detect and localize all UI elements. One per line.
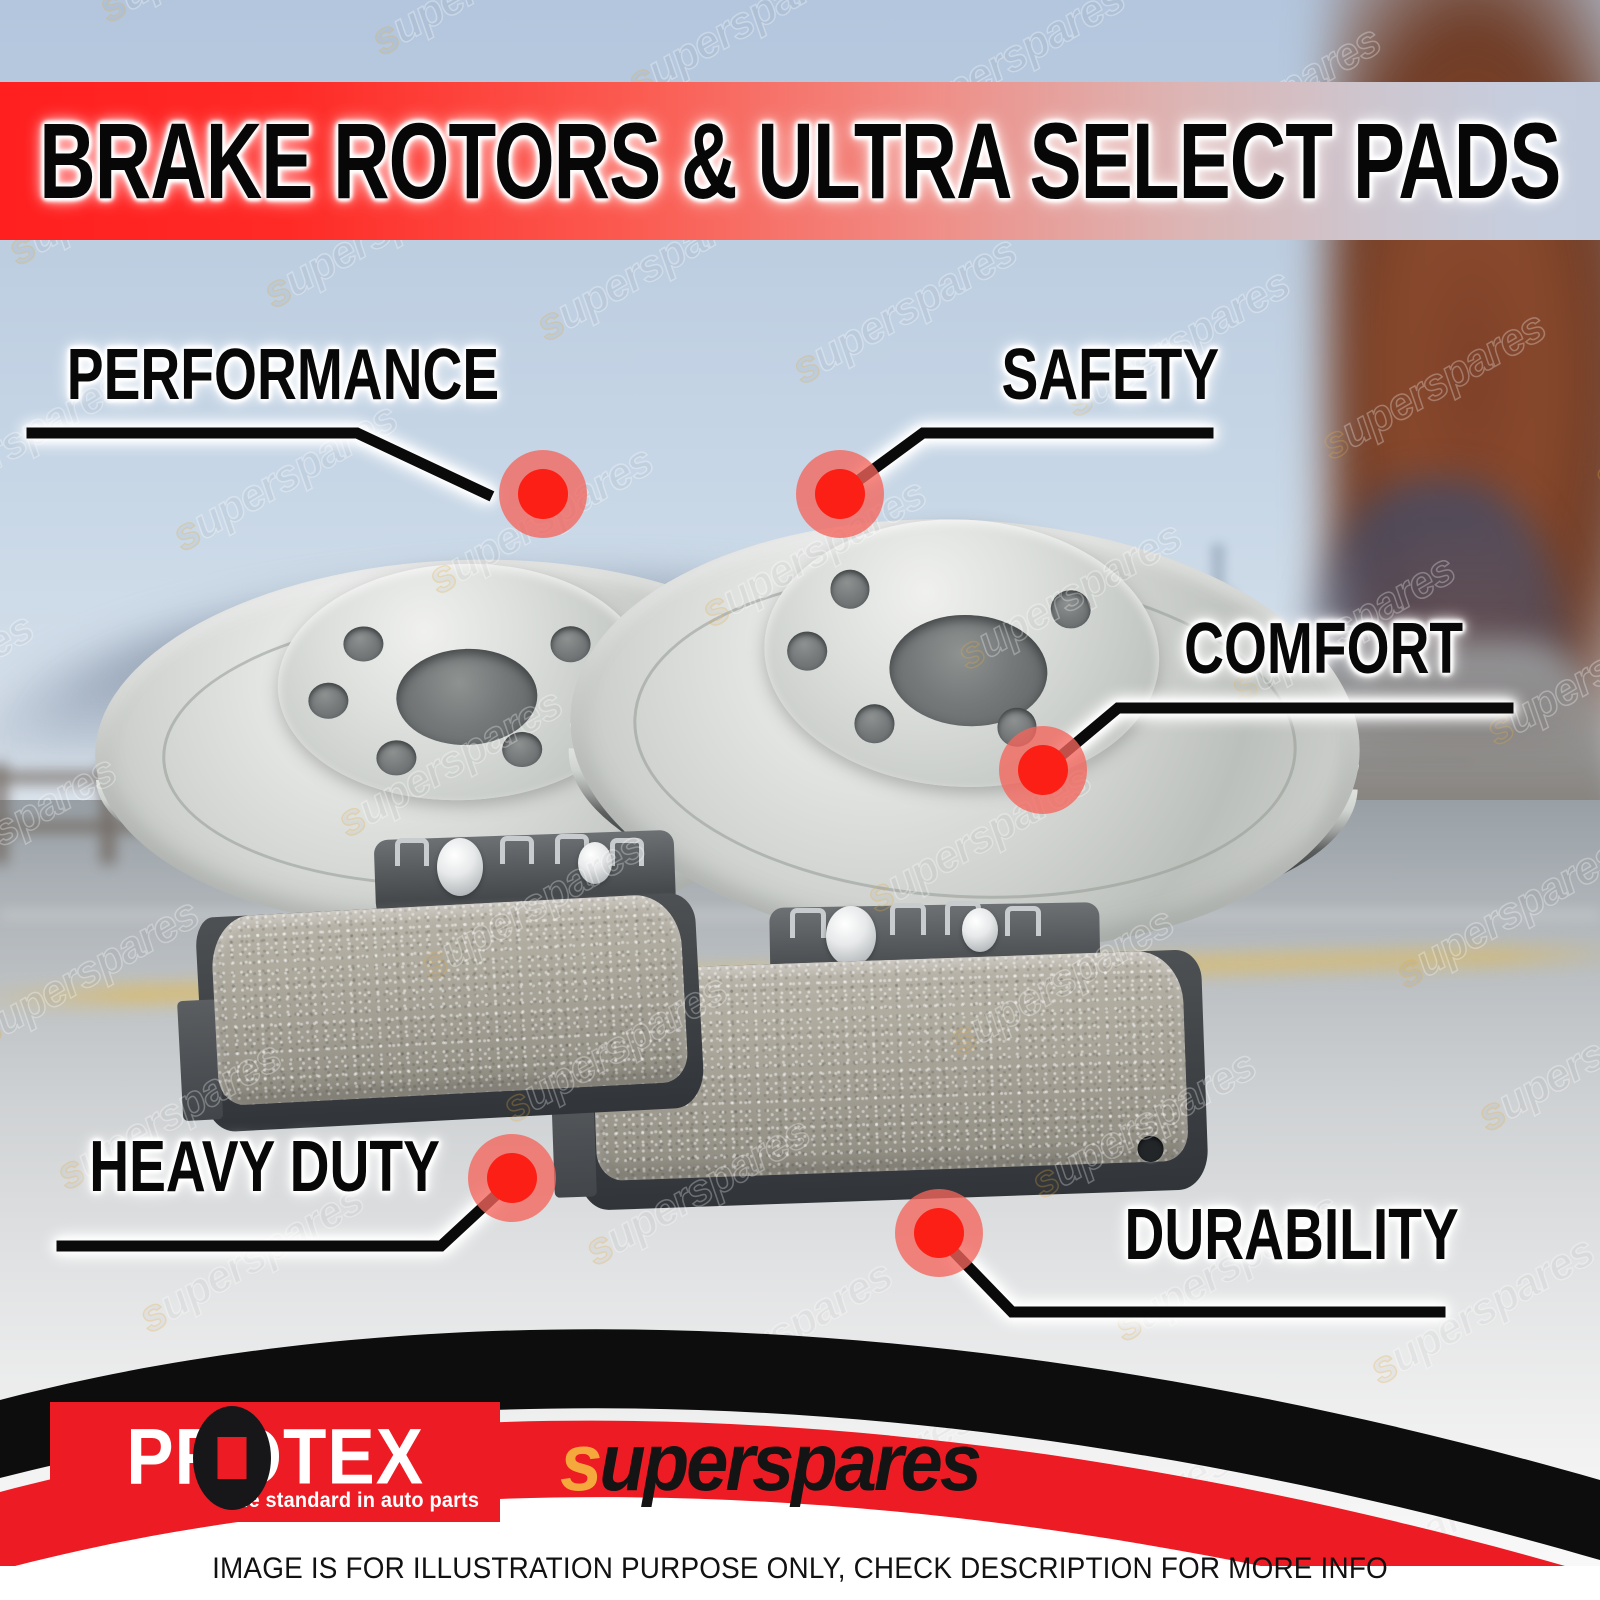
pad-wear-rivet <box>826 906 876 966</box>
brand-logos: PROTEX The standard in auto parts supers… <box>50 1402 979 1522</box>
callout-safety: SAFETY <box>760 330 1280 550</box>
pad-retaining-clip <box>890 903 926 935</box>
pad-retaining-clip <box>1005 906 1041 936</box>
protex-wordmark: PROTEX <box>126 1418 424 1496</box>
callout-safety-leader <box>760 330 1280 550</box>
callout-comfort-leader <box>980 600 1600 820</box>
brake-pad-left <box>195 892 706 1133</box>
callout-comfort: COMFORT <box>980 600 1600 820</box>
callout-heavy-duty-dot <box>487 1153 537 1203</box>
callout-durability: DURABILITY <box>860 1150 1480 1350</box>
title-banner: BRAKE ROTORS & ULTRA SELECT PADS <box>0 82 1600 240</box>
pad-retaining-clip <box>610 838 644 866</box>
callout-durability-leader <box>860 1150 1480 1350</box>
pad-retaining-clip <box>790 908 826 938</box>
pad-left-friction-material <box>210 893 689 1107</box>
product-advertisement-image: supersparessupersparessupersparessupersp… <box>0 0 1600 1600</box>
disclaimer-text: IMAGE IS FOR ILLUSTRATION PURPOSE ONLY, … <box>56 1552 1544 1586</box>
callout-performance: PERFORMANCE <box>0 330 640 550</box>
callout-performance-dot <box>518 469 568 519</box>
callout-heavy-duty-leader <box>30 1110 590 1300</box>
pad-retaining-clip <box>395 838 429 866</box>
callout-performance-leader <box>0 330 640 550</box>
superspares-logo-accent-letter: s <box>560 1416 599 1508</box>
callout-durability-dot <box>914 1208 964 1258</box>
callout-safety-dot <box>815 469 865 519</box>
protex-o-emblem-icon <box>193 1406 271 1510</box>
superspares-logo-wordmark: uperspares <box>599 1416 979 1508</box>
pad-wear-rivet <box>578 842 612 884</box>
page-title: BRAKE ROTORS & ULTRA SELECT PADS <box>39 99 1560 223</box>
callout-heavy-duty: HEAVY DUTY <box>30 1110 590 1300</box>
pad-wear-rivet <box>437 838 483 896</box>
pad-retaining-clip <box>500 836 534 864</box>
footer: PROTEX The standard in auto parts supers… <box>0 1370 1600 1600</box>
callout-comfort-dot <box>1018 745 1068 795</box>
superspares-logo: superspares <box>560 1415 979 1509</box>
protex-logo: PROTEX The standard in auto parts <box>50 1402 500 1522</box>
protex-tagline: The standard in auto parts <box>224 1489 479 1513</box>
pad-wear-rivet <box>962 908 998 952</box>
